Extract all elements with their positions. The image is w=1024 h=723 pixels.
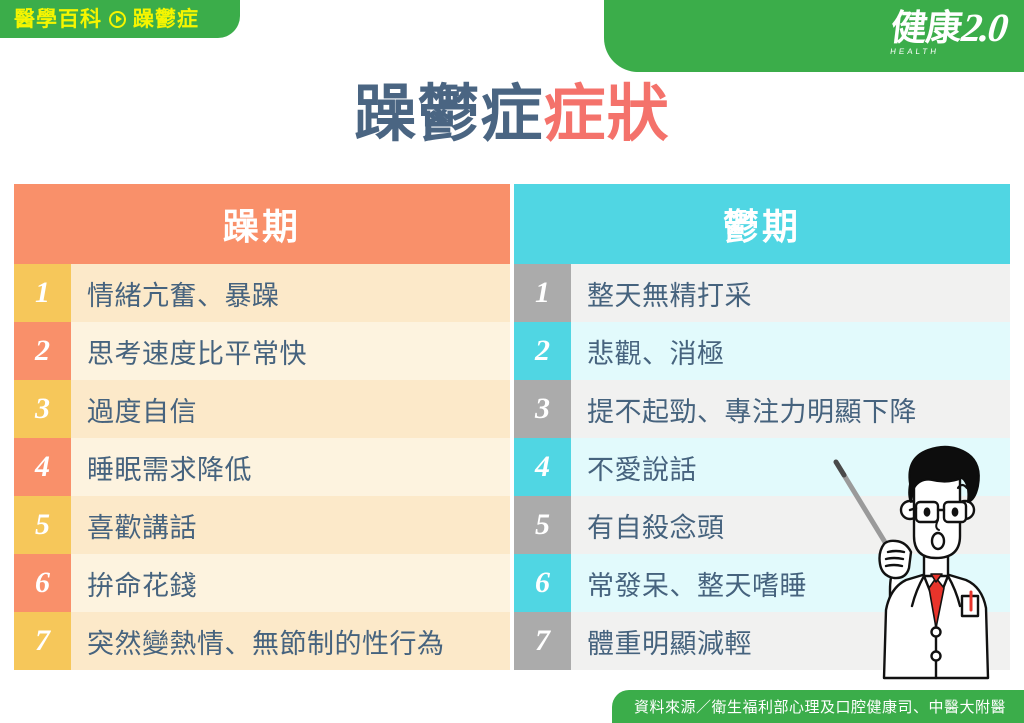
logo-version-number: 2.0 [960, 10, 1009, 47]
logo-subtitle: HEALTH [890, 47, 940, 56]
row-number: 4 [14, 438, 71, 496]
table-row: 7 突然變熱情、無節制的性行為 [14, 612, 510, 670]
row-number: 7 [514, 612, 571, 670]
row-label: 拚命花錢 [71, 554, 510, 612]
row-label: 突然變熱情、無節制的性行為 [71, 612, 510, 670]
row-label: 體重明顯減輕 [571, 612, 1010, 670]
row-number: 6 [514, 554, 571, 612]
depressive-column-header: 鬱期 [514, 184, 1010, 264]
breadcrumb-topic[interactable]: 躁鬱症 [133, 9, 199, 30]
row-label: 整天無精打采 [571, 264, 1010, 322]
row-number: 2 [514, 322, 571, 380]
brand-logo: 健康 HEALTH 2.0 [889, 10, 1009, 47]
row-label: 思考速度比平常快 [71, 322, 510, 380]
table-row: 4 不愛說話 [514, 438, 1010, 496]
row-label: 情緒亢奮、暴躁 [71, 264, 510, 322]
symptom-tables: 躁期 1 情緒亢奮、暴躁 2 思考速度比平常快 3 過度自信 4 睡眠需求降低 … [14, 184, 1010, 670]
table-row: 1 整天無精打采 [514, 264, 1010, 322]
table-row: 5 喜歡講話 [14, 496, 510, 554]
source-footer: 資料來源／衛生福利部心理及口腔健康司、中醫大附醫 [612, 690, 1024, 723]
row-number: 3 [514, 380, 571, 438]
table-row: 3 過度自信 [14, 380, 510, 438]
row-label: 過度自信 [71, 380, 510, 438]
play-circle-icon [109, 11, 126, 28]
row-label: 不愛說話 [571, 438, 1010, 496]
row-number: 4 [514, 438, 571, 496]
manic-phase-column: 躁期 1 情緒亢奮、暴躁 2 思考速度比平常快 3 過度自信 4 睡眠需求降低 … [14, 184, 510, 670]
page-title-symptoms: 症狀 [544, 80, 670, 149]
breadcrumb[interactable]: 醫學百科 躁鬱症 [14, 4, 199, 34]
table-row: 4 睡眠需求降低 [14, 438, 510, 496]
depressive-phase-column: 鬱期 1 整天無精打采 2 悲觀、消極 3 提不起勁、專注力明顯下降 4 不愛說… [514, 184, 1010, 670]
row-label: 悲觀、消極 [571, 322, 1010, 380]
page-title-condition: 躁鬱症 [354, 80, 543, 149]
row-number: 7 [14, 612, 71, 670]
table-row: 3 提不起勁、專注力明顯下降 [514, 380, 1010, 438]
table-row: 2 思考速度比平常快 [14, 322, 510, 380]
manic-column-header: 躁期 [14, 184, 510, 264]
row-number: 1 [514, 264, 571, 322]
table-row: 6 常發呆、整天嗜睡 [514, 554, 1010, 612]
row-number: 1 [14, 264, 71, 322]
row-label: 喜歡講話 [71, 496, 510, 554]
logo-chinese-name: 健康 [889, 11, 963, 47]
row-label: 有自殺念頭 [571, 496, 1010, 554]
table-row: 2 悲觀、消極 [514, 322, 1010, 380]
table-row: 5 有自殺念頭 [514, 496, 1010, 554]
table-row: 1 情緒亢奮、暴躁 [14, 264, 510, 322]
row-label: 常發呆、整天嗜睡 [571, 554, 1010, 612]
breadcrumb-category[interactable]: 醫學百科 [14, 9, 102, 30]
row-number: 3 [14, 380, 71, 438]
row-number: 5 [14, 496, 71, 554]
row-label: 提不起勁、專注力明顯下降 [571, 380, 1010, 438]
page-title: 躁鬱症症狀 [0, 84, 1024, 146]
row-number: 6 [14, 554, 71, 612]
row-label: 睡眠需求降低 [71, 438, 510, 496]
row-number: 5 [514, 496, 571, 554]
table-row: 7 體重明顯減輕 [514, 612, 1010, 670]
row-number: 2 [14, 322, 71, 380]
table-row: 6 拚命花錢 [14, 554, 510, 612]
source-text: 資料來源／衛生福利部心理及口腔健康司、中醫大附醫 [634, 696, 1006, 717]
